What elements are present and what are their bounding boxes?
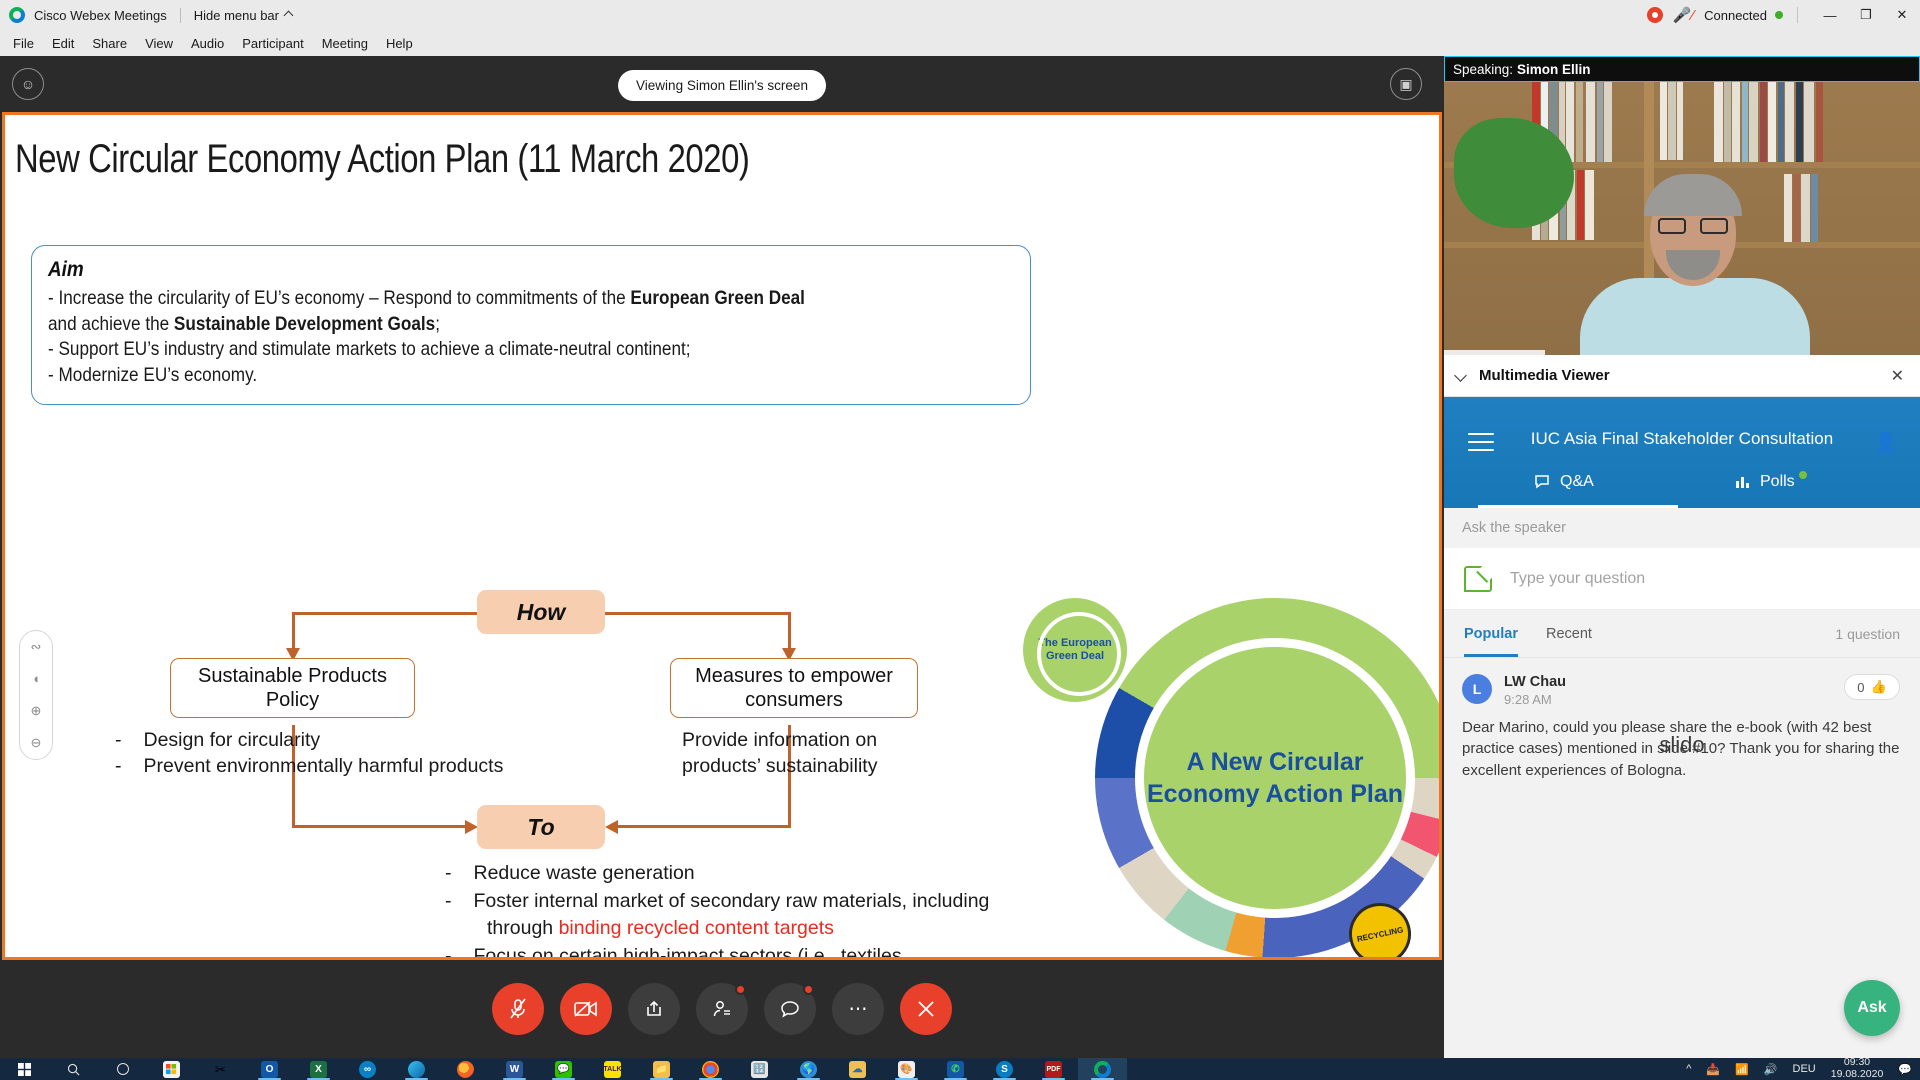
webex-meetings-window: Cisco Webex Meetings Hide menu bar 🎤⁄ Co… (0, 0, 1920, 1058)
clock[interactable]: 09:30 19.08.2020 (1831, 1057, 1884, 1080)
zoom-out-tool-icon[interactable]: ⊖ (31, 735, 42, 751)
compose-pencil-icon (1464, 566, 1492, 592)
right-panel: Speaking:Simon Ellin (1444, 56, 1920, 1058)
hide-menu-bar-button[interactable]: Hide menu bar (194, 8, 292, 23)
show-hidden-icons-icon[interactable]: ^ (1686, 1063, 1691, 1075)
aim-line-2: and achieve the Sustainable Development … (48, 312, 898, 338)
viewing-screen-label: Viewing Simon Ellin's screen (618, 70, 826, 101)
divider (180, 8, 181, 23)
to-bullet-1: Reduce waste generation (474, 860, 695, 888)
slido-header: IUC Asia Final Stakeholder Consultation … (1444, 397, 1920, 508)
question-list: L LW Chau 9:28 AM 0 👍 Dear Marino, could… (1444, 658, 1920, 781)
onedrive-folder-icon[interactable]: ☁ (833, 1058, 882, 1080)
menu-bar: File Edit Share View Audio Participant M… (0, 30, 1920, 56)
active-speaker-bar: Speaking:Simon Ellin (1444, 56, 1920, 82)
skype-icon[interactable]: S (980, 1058, 1029, 1080)
user-account-icon[interactable]: 👤 (1874, 431, 1898, 455)
emoji-reactions-button[interactable]: ☺ (12, 68, 44, 100)
slide-title: New Circular Economy Action Plan (11 Mar… (15, 137, 749, 182)
chat-bubble-icon (1534, 474, 1552, 490)
highlighter-tool-icon[interactable]: ◖ (32, 671, 40, 686)
binding-targets-highlight: binding recycled content targets (559, 917, 834, 939)
list-item[interactable]: L LW Chau 9:28 AM 0 👍 Dear Marino, could… (1462, 674, 1900, 781)
connection-status-label: Connected (1704, 8, 1767, 23)
volume-icon[interactable]: 🔊 (1764, 1063, 1778, 1076)
speaker-video-tile[interactable]: Simon Ellin (1444, 82, 1920, 355)
polls-new-dot-icon (1799, 471, 1807, 479)
avatar: L (1462, 674, 1492, 704)
connector-how-down-right (788, 612, 791, 652)
aim-line-1: - Increase the circularity of EU’s econo… (48, 286, 898, 312)
list-item: -Reduce waste generation (445, 860, 989, 888)
participants-badge (735, 984, 746, 995)
left-bullet-1: Design for circularity (144, 727, 321, 753)
speaker-torso (1580, 278, 1810, 355)
bullet-dash: - (445, 860, 452, 888)
menu-item-view[interactable]: View (136, 33, 182, 54)
snipping-tool-icon[interactable]: ✂ (196, 1058, 245, 1080)
start-button[interactable] (0, 1058, 49, 1080)
connector-right-to-to (611, 825, 791, 828)
connector-how-to-left (292, 612, 478, 615)
presentation-slide: New Circular Economy Action Plan (11 Mar… (5, 115, 1439, 957)
kakaotalk-icon[interactable]: TALK (588, 1058, 637, 1080)
cortana-icon[interactable] (98, 1058, 147, 1080)
close-panel-button[interactable]: ✕ (1891, 366, 1904, 386)
annotation-toolbar[interactable]: ∾ ◖ ⊕ ⊖ (19, 630, 53, 760)
more-options-button[interactable]: ⋯ (832, 983, 884, 1035)
app-title: Cisco Webex Meetings (34, 8, 167, 23)
bullet-dash: - (445, 888, 452, 916)
right-text: Provide information on products’ sustain… (682, 727, 877, 780)
shared-screen-frame: New Circular Economy Action Plan (11 Mar… (2, 112, 1442, 960)
menu-item-help[interactable]: Help (377, 33, 422, 54)
divider (1797, 7, 1798, 23)
microphone-muted-icon (508, 998, 528, 1020)
camera-muted-icon (574, 1000, 598, 1018)
wifi-icon[interactable]: 📶 (1735, 1063, 1749, 1076)
chat-bubble-icon (780, 999, 800, 1019)
wechat-icon[interactable]: 💬 (539, 1058, 588, 1080)
list-item: -Prevent environmentally harmful product… (115, 753, 503, 779)
clock-date: 19.08.2020 (1831, 1069, 1884, 1080)
shared-content-stage: ☺ Viewing Simon Ellin's screen ▣ New Cir… (0, 56, 1444, 1058)
nextcloud-icon[interactable]: ∞ (343, 1058, 392, 1080)
aim-label: Aim (48, 258, 917, 282)
upvote-button[interactable]: 0 👍 (1844, 674, 1900, 700)
tab-qa[interactable]: Q&A (1534, 473, 1594, 491)
measures-empower-consumers-box: Measures to empower consumers (670, 658, 918, 718)
question-header: L LW Chau 9:28 AM 0 👍 (1462, 674, 1900, 707)
bar-chart-icon (1734, 474, 1752, 490)
right-text-line-2: products’ sustainability (682, 753, 877, 779)
speaking-name: Simon Ellin (1517, 62, 1591, 77)
filter-active-underline (1464, 654, 1518, 657)
to-bullet-2-cont: through binding recycled content targets (445, 915, 989, 943)
edge-icon[interactable] (392, 1058, 441, 1080)
how-pill: How (477, 590, 605, 634)
recording-indicator-icon[interactable] (1647, 7, 1663, 23)
aim-line-4: - Modernize EU’s economy. (48, 363, 898, 389)
chevron-down-icon[interactable] (1454, 369, 1467, 382)
mute-audio-button[interactable] (492, 983, 544, 1035)
slido-brand-label: slido (1444, 732, 1920, 758)
to-line2-prefix: through (487, 917, 559, 939)
arrowhead-to-right (605, 820, 618, 834)
menu-item-edit[interactable]: Edit (43, 33, 83, 54)
layout-view-button[interactable]: ▣ (1390, 68, 1422, 100)
chrome-icon[interactable] (686, 1058, 735, 1080)
connector-how-to-right (605, 612, 791, 615)
thumbs-up-icon: 👍 (1871, 679, 1887, 695)
stage-header: ☺ Viewing Simon Ellin's screen ▣ (0, 56, 1444, 112)
pdf-icon[interactable]: PDF (1029, 1058, 1078, 1080)
webex-logo-icon (9, 7, 25, 23)
menu-item-meeting[interactable]: Meeting (313, 33, 377, 54)
list-item: -Foster internal market of secondary raw… (445, 888, 989, 916)
to-bullet-3: Focus on certain high-impact sectors (i.… (474, 943, 908, 960)
question-input-placeholder: Type your question (1510, 570, 1645, 588)
firefox-icon[interactable] (441, 1058, 490, 1080)
connector-left-to-to (292, 825, 472, 828)
excel-icon[interactable]: X (294, 1058, 343, 1080)
chat-button[interactable] (764, 983, 816, 1035)
window-title-bar: Cisco Webex Meetings Hide menu bar 🎤⁄ Co… (0, 0, 1920, 30)
question-count: 1 question (1835, 626, 1900, 642)
titlebar-right-group: 🎤⁄ Connected — ❐ ✕ (1647, 0, 1920, 30)
question-meta: LW Chau 9:28 AM (1504, 674, 1566, 707)
paint-icon[interactable]: 🎨 (882, 1058, 931, 1080)
graphic-center-label: A New Circular Economy Action Plan (1135, 638, 1415, 918)
search-icon[interactable] (49, 1058, 98, 1080)
to-pill: To (477, 805, 605, 849)
tab-polls-label: Polls (1760, 473, 1795, 491)
close-x-icon (916, 999, 936, 1019)
european-green-deal-badge: The European Green Deal (1023, 598, 1127, 702)
onedrive-sync-icon[interactable]: 📥 (1706, 1063, 1720, 1076)
slido-event-title: IUC Asia Final Stakeholder Consultation (1444, 429, 1920, 449)
calculator-icon[interactable]: 🔢 (735, 1058, 784, 1080)
right-text-line-1: Provide information on (682, 727, 877, 753)
speaking-prefix: Speaking: (1453, 62, 1513, 77)
word-icon[interactable]: W (490, 1058, 539, 1080)
bullet-dash: - (115, 727, 122, 753)
question-input-row[interactable]: Type your question (1444, 548, 1920, 610)
multimedia-viewer-title: Multimedia Viewer (1479, 367, 1610, 384)
system-tray: ^ 📥 📶 🔊 DEU 09:30 19.08.2020 💬 (1686, 1057, 1920, 1080)
menu-item-file[interactable]: File (4, 33, 43, 54)
question-filters: Popular Recent 1 question (1444, 610, 1920, 658)
left-bullet-2: Prevent environmentally harmful products (144, 753, 504, 779)
meeting-control-bar: ⋯ (0, 960, 1444, 1058)
stop-video-button[interactable] (560, 983, 612, 1035)
aim-box: Aim - Increase the circularity of EU’s e… (31, 245, 1031, 405)
action-center-icon[interactable]: 💬 (1898, 1063, 1912, 1076)
circular-economy-graphic: A New Circular Economy Action Plan The E… (1023, 580, 1423, 960)
slido-embed: IUC Asia Final Stakeholder Consultation … (1444, 397, 1920, 1058)
speaker-glasses (1658, 218, 1728, 234)
aim-line-3: - Support EU’s industry and stimulate ma… (48, 337, 898, 363)
microsoft-store-icon[interactable] (147, 1058, 196, 1080)
upvote-count: 0 (1857, 680, 1864, 695)
zoom-in-tool-icon[interactable]: ⊕ (31, 703, 42, 719)
multimedia-viewer-header: Multimedia Viewer ✕ (1444, 355, 1920, 397)
menu-item-audio[interactable]: Audio (182, 33, 233, 54)
whatsapp-icon[interactable]: ✆ (931, 1058, 980, 1080)
tab-qa-label: Q&A (1560, 473, 1594, 491)
list-item: -Focus on certain high-impact sectors (i… (445, 943, 989, 960)
chat-badge (803, 984, 814, 995)
language-indicator[interactable]: DEU (1793, 1063, 1816, 1075)
list-item: -Design for circularity (115, 727, 503, 753)
minimize-button[interactable]: — (1812, 0, 1848, 30)
microphone-muted-icon[interactable]: 🎤⁄ (1673, 6, 1694, 24)
bullet-dash: - (115, 753, 122, 779)
windows-taskbar: ✂ O X ∞ W 💬 TALK 📁 🔢 🌎 ☁ 🎨 ✆ S PDF ^ 📥 📶… (0, 1058, 1920, 1080)
file-explorer-icon[interactable]: 📁 (637, 1058, 686, 1080)
filter-popular[interactable]: Popular (1464, 626, 1518, 642)
hide-menu-bar-label: Hide menu bar (194, 8, 279, 23)
maximize-button[interactable]: ❐ (1848, 0, 1884, 30)
webex-icon[interactable] (1078, 1058, 1127, 1080)
to-bullets: -Reduce waste generation -Foster interna… (445, 860, 989, 960)
earth-icon[interactable]: 🌎 (784, 1058, 833, 1080)
question-author: LW Chau (1504, 674, 1566, 690)
question-time: 9:28 AM (1504, 692, 1566, 707)
to-bullet-2: Foster internal market of secondary raw … (474, 888, 990, 916)
close-button[interactable]: ✕ (1884, 0, 1920, 30)
leave-meeting-button[interactable] (900, 983, 952, 1035)
participants-button[interactable] (696, 983, 748, 1035)
ask-button[interactable]: Ask (1844, 980, 1900, 1036)
outlook-icon[interactable]: O (245, 1058, 294, 1080)
sustainable-products-policy-box: Sustainable Products Policy (170, 658, 415, 718)
connection-status-dot-icon (1775, 11, 1783, 19)
bullet-dash: - (445, 943, 452, 960)
filter-recent[interactable]: Recent (1546, 626, 1592, 642)
share-icon (644, 999, 664, 1019)
share-content-button[interactable] (628, 983, 680, 1035)
participants-icon (712, 999, 732, 1019)
menu-item-participant[interactable]: Participant (233, 33, 312, 54)
connector-how-down-left (292, 612, 295, 652)
tab-polls[interactable]: Polls (1734, 473, 1795, 491)
tab-active-underline (1478, 505, 1678, 508)
left-bullets: -Design for circularity -Prevent environ… (115, 727, 503, 780)
ask-the-speaker-label: Ask the speaker (1444, 508, 1920, 548)
pointer-tool-icon[interactable]: ∾ (31, 639, 42, 655)
menu-item-share[interactable]: Share (83, 33, 136, 54)
chevron-up-icon (284, 10, 294, 20)
